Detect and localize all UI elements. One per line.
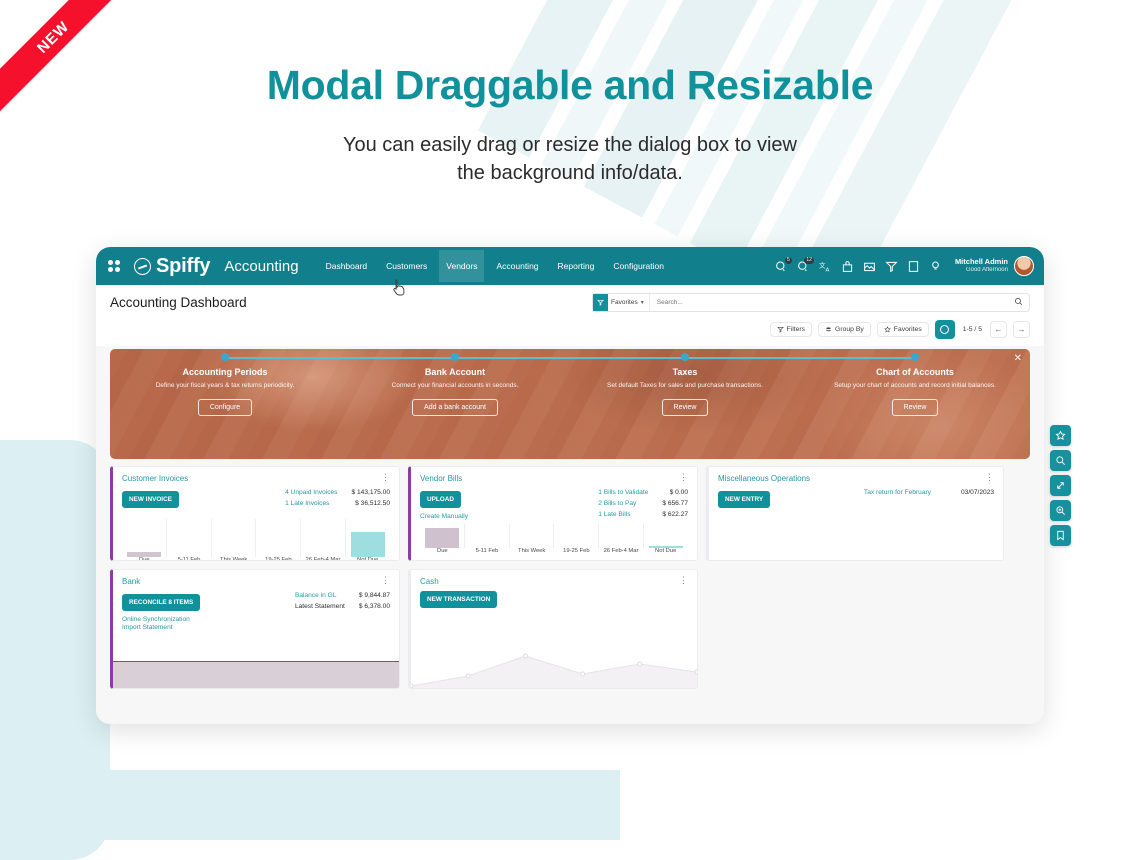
brand-name: Spiffy bbox=[156, 255, 210, 278]
card-vendor-bills: Vendor Bills ⋮ UPLOAD Create Manually 1 … bbox=[408, 466, 698, 561]
stat-value: $ 0.00 bbox=[662, 488, 688, 499]
add-bank-account-button[interactable]: Add a bank account bbox=[412, 399, 498, 416]
bank-chart bbox=[113, 661, 399, 688]
funnel-icon bbox=[593, 294, 608, 311]
upload-button[interactable]: UPLOAD bbox=[420, 491, 461, 508]
card-menu-icon[interactable]: ⋮ bbox=[679, 577, 688, 584]
card-title: Miscellaneous Operations bbox=[718, 474, 810, 483]
stat-label[interactable]: Tax return for February bbox=[864, 488, 931, 499]
stat-label[interactable]: 1 Late Invoices bbox=[285, 499, 337, 510]
chevron-down-icon: ▾ bbox=[641, 299, 644, 306]
banner-step-chart-of-accounts: Chart of Accounts Setup your chart of ac… bbox=[800, 367, 1030, 459]
menu-item-dashboard[interactable]: Dashboard bbox=[319, 250, 375, 282]
step-title: Taxes bbox=[570, 367, 800, 377]
star-icon[interactable] bbox=[1050, 425, 1071, 446]
bookmark-icon[interactable] bbox=[1050, 525, 1071, 546]
app-name: Accounting bbox=[224, 258, 298, 275]
customer-invoices-chart bbox=[122, 519, 390, 557]
stat-label[interactable]: 1 Bills to Validate bbox=[598, 488, 648, 499]
user-menu[interactable]: Mitchell Admin Good Afternoon bbox=[955, 256, 1034, 276]
import-statement-link[interactable]: Import Statement bbox=[122, 624, 200, 631]
main-menu: Dashboard Customers Vendors Accounting R… bbox=[319, 250, 671, 282]
new-ribbon: NEW bbox=[0, 0, 130, 130]
navbar: Spiffy Accounting Dashboard Customers Ve… bbox=[96, 247, 1044, 285]
vendor-bills-chart bbox=[420, 524, 688, 548]
banner-step-bank-account: Bank Account Connect your financial acco… bbox=[340, 367, 570, 459]
pager-next-button[interactable]: → bbox=[1013, 321, 1030, 338]
hero-subtitle: You can easily drag or resize the dialog… bbox=[0, 131, 1140, 188]
card-menu-icon[interactable]: ⋮ bbox=[381, 577, 390, 584]
toolbar: Filters Group By Favorites 1-5 / 5 ← → bbox=[110, 312, 1030, 346]
stat-value: $ 656.77 bbox=[662, 499, 688, 510]
card-cash: Cash ⋮ NEW TRANSACTION bbox=[408, 569, 698, 689]
menu-item-vendors[interactable]: Vendors bbox=[439, 250, 484, 282]
chart-tick: 5-11 Feb bbox=[465, 548, 510, 554]
stat-value: $ 143,175.00 bbox=[351, 488, 390, 499]
pager-count: 1-5 / 5 bbox=[963, 326, 982, 333]
stat-value: 03/07/2023 bbox=[961, 488, 994, 499]
search-zone: Favorites ▾ bbox=[592, 293, 1030, 312]
stat-value: $ 9,844.87 bbox=[359, 591, 390, 602]
review-taxes-button[interactable]: Review bbox=[662, 399, 709, 416]
vendor-bills-chart-labels: Due 5-11 Feb This Week 19-25 Feb 26 Feb-… bbox=[420, 548, 688, 554]
funnel-icon[interactable] bbox=[885, 260, 898, 273]
view-toggle-button[interactable] bbox=[935, 320, 955, 339]
card-menu-icon[interactable]: ⋮ bbox=[381, 474, 390, 481]
step-desc: Connect your financial accounts in secon… bbox=[340, 381, 570, 390]
filters-label: Filters bbox=[787, 326, 806, 333]
stat-label[interactable]: 2 Bills to Pay bbox=[598, 499, 648, 510]
navbar-right: 5 12 文A bbox=[775, 256, 1034, 276]
user-greeting: Good Afternoon bbox=[955, 267, 1008, 274]
menu-item-accounting[interactable]: Accounting bbox=[489, 250, 545, 282]
resize-icon[interactable] bbox=[1050, 475, 1071, 496]
activity-badge: 12 bbox=[804, 257, 814, 264]
favorites-button[interactable]: Favorites bbox=[877, 322, 929, 337]
app-window: Spiffy Accounting Dashboard Customers Ve… bbox=[96, 247, 1044, 724]
review-coa-button[interactable]: Review bbox=[892, 399, 939, 416]
stat-label: Latest Statement bbox=[295, 602, 345, 613]
new-entry-button[interactable]: NEW ENTRY bbox=[718, 491, 770, 508]
gallery-icon[interactable] bbox=[863, 260, 876, 273]
new-invoice-button[interactable]: NEW INVOICE bbox=[122, 491, 179, 508]
svg-text:A: A bbox=[825, 267, 829, 273]
avatar[interactable] bbox=[1014, 256, 1034, 276]
chart-tick: 26 Feb-4 Mar bbox=[301, 557, 346, 561]
note-icon[interactable] bbox=[907, 260, 920, 273]
reconcile-items-button[interactable]: RECONCILE 8 ITEMS bbox=[122, 594, 200, 611]
chart-tick: 26 Feb-4 Mar bbox=[599, 548, 644, 554]
messages-icon[interactable]: 5 bbox=[775, 260, 788, 273]
card-title: Vendor Bills bbox=[420, 474, 462, 483]
configure-button[interactable]: Configure bbox=[198, 399, 252, 416]
hero-subtitle-line-2: the background info/data. bbox=[0, 159, 1140, 187]
side-rail bbox=[1050, 425, 1071, 546]
step-desc: Define your fiscal years & tax returns p… bbox=[110, 381, 340, 390]
chart-tick: 19-25 Feb bbox=[256, 557, 301, 561]
stat-label[interactable]: 4 Unpaid Invoices bbox=[285, 488, 337, 499]
stat-value: $ 36,512.50 bbox=[351, 499, 390, 510]
favorites-chip-label: Favorites bbox=[611, 299, 638, 306]
customer-invoices-chart-labels: Due 5-11 Feb This Week 19-25 Feb 26 Feb-… bbox=[122, 557, 390, 561]
banner-step-accounting-periods: Accounting Periods Define your fiscal ye… bbox=[110, 367, 340, 459]
menu-item-reporting[interactable]: Reporting bbox=[551, 250, 602, 282]
search-bar[interactable]: Favorites ▾ bbox=[592, 293, 1030, 312]
card-customer-invoices: Customer Invoices ⋮ NEW INVOICE 4 Unpaid… bbox=[110, 466, 400, 561]
stat-label[interactable]: 1 Late Bills bbox=[598, 510, 648, 521]
step-title: Accounting Periods bbox=[110, 367, 340, 377]
chart-tick: Not Due bbox=[643, 548, 688, 554]
group-by-button[interactable]: Group By bbox=[818, 322, 871, 337]
translate-icon[interactable]: 文A bbox=[819, 260, 832, 273]
card-miscellaneous-operations: Miscellaneous Operations ⋮ NEW ENTRY Tax… bbox=[706, 466, 1004, 561]
apps-grid-icon[interactable] bbox=[108, 260, 120, 272]
group-by-label: Group By bbox=[835, 326, 864, 333]
activity-icon[interactable]: 12 bbox=[797, 260, 810, 273]
stat-label[interactable]: Balance in GL bbox=[295, 591, 345, 602]
create-manually-link[interactable]: Create Manually bbox=[420, 513, 468, 520]
chart-tick: Due bbox=[122, 557, 167, 561]
shop-icon[interactable] bbox=[841, 260, 854, 273]
step-title: Bank Account bbox=[340, 367, 570, 377]
menu-item-customers[interactable]: Customers bbox=[379, 250, 434, 282]
lightbulb-icon[interactable] bbox=[929, 260, 942, 273]
chart-tick: 5-11 Feb bbox=[167, 557, 212, 561]
chart-tick: This Week bbox=[509, 548, 554, 554]
step-title: Chart of Accounts bbox=[800, 367, 1030, 377]
spiffy-mark-icon bbox=[134, 258, 151, 275]
stat-value: $ 6,378.00 bbox=[359, 602, 390, 613]
control-bar: Accounting Dashboard Favorites ▾ bbox=[96, 285, 1044, 346]
card-title: Cash bbox=[420, 577, 439, 586]
stat-value: $ 622.27 bbox=[662, 510, 688, 521]
hero-subtitle-line-1: You can easily drag or resize the dialog… bbox=[0, 131, 1140, 159]
filters-button[interactable]: Filters bbox=[770, 322, 813, 337]
online-synchronization-link[interactable]: Online Synchronization bbox=[122, 616, 200, 623]
chart-tick: Not Due bbox=[345, 557, 390, 561]
new-transaction-button[interactable]: NEW TRANSACTION bbox=[420, 591, 497, 608]
chart-tick: This Week bbox=[211, 557, 256, 561]
user-name: Mitchell Admin bbox=[955, 258, 1008, 267]
messages-badge: 5 bbox=[785, 257, 792, 264]
dashboard-title: Accounting Dashboard bbox=[110, 293, 247, 310]
chart-tick: 19-25 Feb bbox=[554, 548, 599, 554]
card-title: Customer Invoices bbox=[122, 474, 188, 483]
cash-chart bbox=[411, 642, 697, 688]
step-desc: Set default Taxes for sales and purchase… bbox=[570, 381, 800, 390]
step-desc: Setup your chart of accounts and record … bbox=[800, 381, 1030, 390]
card-menu-icon[interactable]: ⋮ bbox=[679, 474, 688, 481]
search-icon[interactable] bbox=[1014, 297, 1023, 308]
chart-tick: Due bbox=[420, 548, 465, 554]
favorites-label: Favorites bbox=[894, 326, 922, 333]
favorites-chip[interactable]: Favorites ▾ bbox=[593, 294, 650, 311]
card-bank: Bank ⋮ RECONCILE 8 ITEMS Online Synchron… bbox=[110, 569, 400, 689]
search-input[interactable] bbox=[650, 299, 1014, 306]
brand-logo[interactable]: Spiffy bbox=[134, 255, 210, 278]
hero-section: Modal Draggable and Resizable You can ea… bbox=[0, 0, 1140, 188]
menu-item-configuration[interactable]: Configuration bbox=[606, 250, 671, 282]
background-blob-bottom bbox=[0, 770, 620, 840]
card-title: Bank bbox=[122, 577, 140, 586]
new-ribbon-label: NEW bbox=[0, 0, 130, 115]
dashboard-cards: Customer Invoices ⋮ NEW INVOICE 4 Unpaid… bbox=[96, 459, 1044, 689]
close-icon[interactable]: ✕ bbox=[1014, 353, 1022, 364]
card-menu-icon[interactable]: ⋮ bbox=[985, 474, 994, 481]
onboarding-banner: ✕ Accounting Periods Define your fiscal … bbox=[110, 349, 1030, 459]
pager-prev-button[interactable]: ← bbox=[990, 321, 1007, 338]
page-title: Modal Draggable and Resizable bbox=[0, 62, 1140, 109]
search-icon[interactable] bbox=[1050, 450, 1071, 471]
zoom-search-icon[interactable] bbox=[1050, 500, 1071, 521]
banner-step-taxes: Taxes Set default Taxes for sales and pu… bbox=[570, 367, 800, 459]
